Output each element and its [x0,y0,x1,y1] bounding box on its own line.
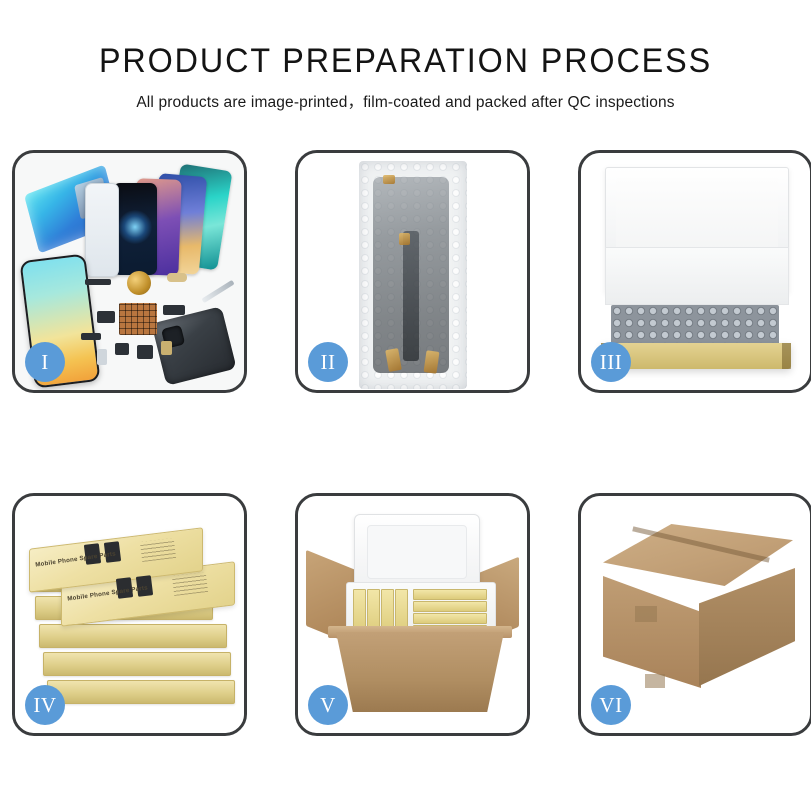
small-part [137,345,153,359]
step-badge-5: V [308,685,348,725]
step-panel-2[interactable]: II [295,150,530,393]
small-part [167,273,187,282]
retail-box-layer [43,652,231,676]
tweezers-tool [201,280,234,303]
gold-connector [385,348,402,372]
phone-display-fan [103,167,243,277]
small-part [115,343,129,355]
carton-right-face [699,568,795,686]
page-title: PRODUCT PREPARATION PROCESS [20,44,790,80]
phone-display-black-oled [113,183,157,275]
small-part [97,311,115,323]
packed-yellow-box [413,589,487,600]
carton-body [336,632,504,712]
packed-yellow-box [413,601,487,612]
foam-lid [354,514,480,590]
step-badge-4: IV [25,685,65,725]
bubble-wrap-contents [611,305,779,347]
step-badge-1: I [25,342,65,382]
step-badge-6: VI [591,685,631,725]
chip-grid-part [119,303,157,335]
bubble-wrap-sleeve [359,161,467,389]
page-header: PRODUCT PREPARATION PROCESS All products… [0,0,811,112]
gold-connector [383,175,395,184]
small-part [163,305,185,315]
page-subtitle: All products are image-printed，film-coat… [0,90,811,112]
gold-coil-part [127,271,151,295]
white-foam-sheet [605,247,789,305]
retail-box-stack: Mobile Phone Spare Parts Mobile Phone Sp… [25,514,235,714]
step-panel-6[interactable]: VI [578,493,811,736]
step-badge-2: II [308,342,348,382]
retail-box-layer [47,680,235,704]
step-panel-5[interactable]: V [295,493,530,736]
small-part [161,341,172,355]
carton-tape-mark [635,606,657,622]
box-artwork-text-block [172,572,208,596]
gold-connector [399,233,410,245]
process-steps-grid: I II III [12,150,802,736]
small-part [81,333,101,340]
step-panel-3[interactable]: III [578,150,811,393]
flex-cable [403,231,419,361]
packed-yellow-box [413,613,487,624]
step-badge-3: III [591,342,631,382]
carton-tape-mark [645,674,665,688]
box-artwork-text-block [140,538,176,562]
carton-top-face [603,524,793,586]
small-part [85,279,111,285]
gold-connector [423,350,439,374]
small-part [97,349,107,365]
step-panel-4[interactable]: Mobile Phone Spare Parts Mobile Phone Sp… [12,493,247,736]
step-panel-1[interactable]: I [12,150,247,393]
carton-left-face [603,576,701,688]
phone-glass-panel [85,183,119,277]
retail-box-layer [39,624,227,648]
